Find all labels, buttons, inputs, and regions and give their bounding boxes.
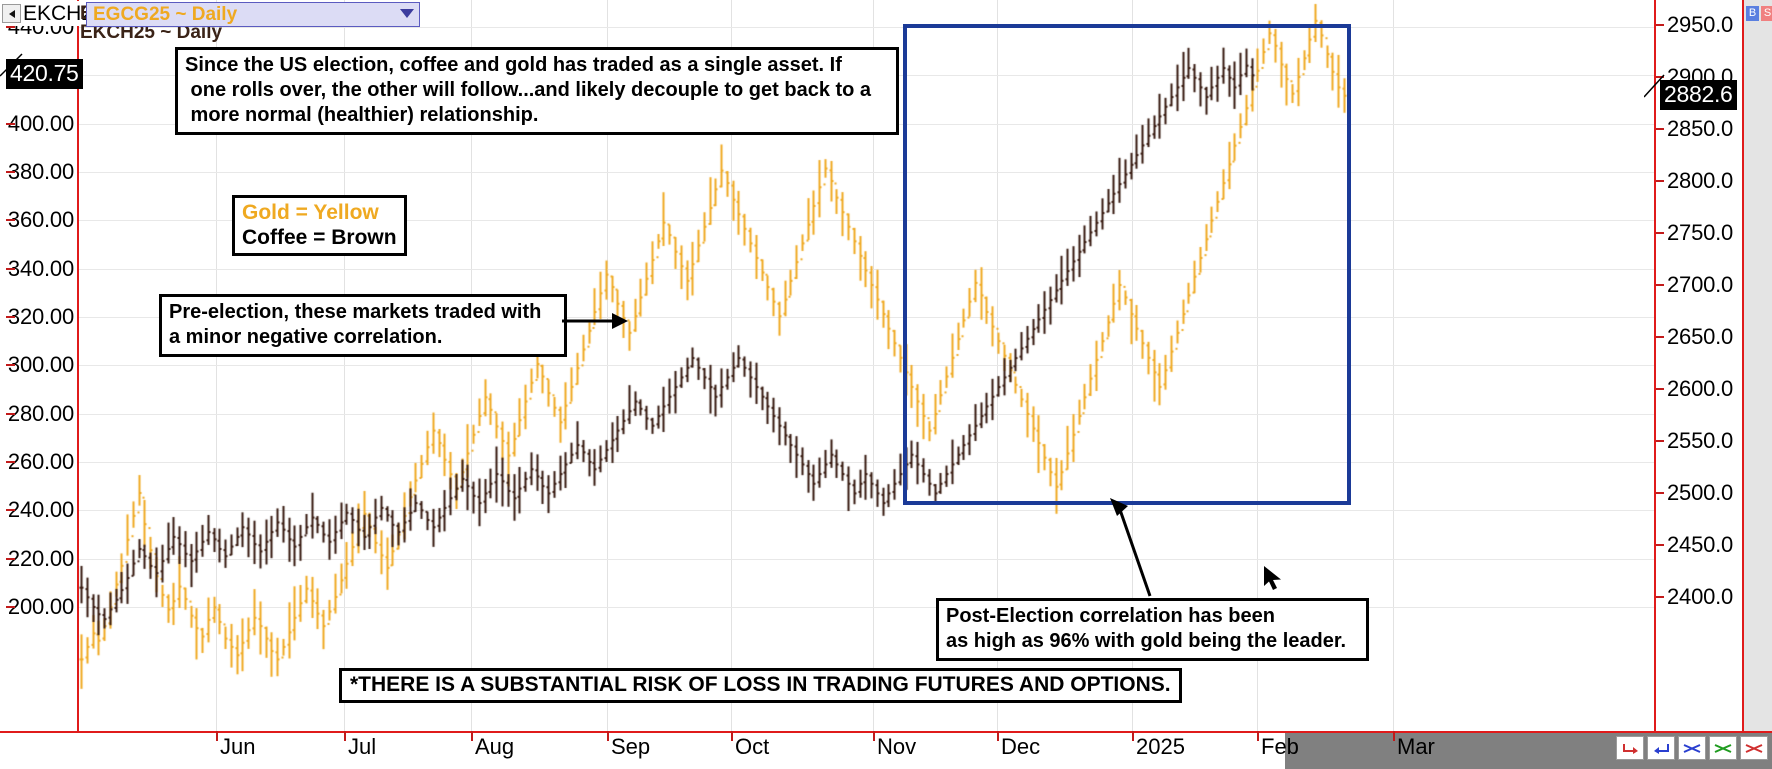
right-axis-tick bbox=[1655, 596, 1664, 598]
left-axis-label: 200.00 bbox=[8, 594, 74, 620]
left-axis-tick bbox=[6, 26, 15, 28]
right-axis-tick bbox=[1655, 180, 1664, 182]
right-axis-divider bbox=[1654, 0, 1656, 731]
date-axis-label: Aug bbox=[475, 734, 514, 760]
date-axis-tick bbox=[1257, 731, 1259, 741]
left-axis-tick bbox=[6, 413, 15, 415]
date-axis-tick bbox=[1132, 731, 1134, 741]
left-current-price-tag: 420.75 bbox=[6, 59, 83, 89]
right-axis-tick bbox=[1655, 440, 1664, 442]
right-current-price-tag: 2882.6 bbox=[1660, 80, 1737, 110]
post-election-arrow-icon bbox=[1108, 496, 1154, 602]
crossing-blue-icon[interactable] bbox=[1678, 736, 1706, 760]
date-axis-tick bbox=[607, 731, 609, 741]
left-axis-tick bbox=[6, 606, 15, 608]
right-axis-tick bbox=[1655, 388, 1664, 390]
right-axis-label: 2750.0 bbox=[1667, 220, 1733, 246]
chart-window: 440.00420.00400.00380.00360.00340.00320.… bbox=[0, 0, 1772, 769]
annotation-top-note[interactable]: Since the US election, coffee and gold h… bbox=[175, 47, 899, 135]
legend-coffee-label: Coffee = Brown bbox=[242, 225, 397, 250]
buy-sell-badges[interactable]: B S bbox=[1746, 6, 1772, 21]
right-axis-label: 2550.0 bbox=[1667, 428, 1733, 454]
risk-disclaimer: *THERE IS A SUBSTANTIAL RISK OF LOSS IN … bbox=[339, 668, 1182, 703]
selection-rectangle[interactable] bbox=[903, 24, 1351, 505]
left-axis-tick bbox=[6, 268, 15, 270]
right-axis-label: 2800.0 bbox=[1667, 168, 1733, 194]
date-axis-label: Sep bbox=[611, 734, 650, 760]
symbol-dropdown[interactable]: EGCG25 ~ Daily bbox=[86, 2, 420, 27]
left-axis-tick bbox=[6, 171, 15, 173]
right-axis-label: 2600.0 bbox=[1667, 376, 1733, 402]
step-forward-icon[interactable] bbox=[1647, 736, 1675, 760]
mouse-cursor-icon bbox=[1264, 566, 1284, 594]
left-axis-label: 360.00 bbox=[8, 207, 74, 233]
collapse-left-icon[interactable] bbox=[2, 4, 21, 23]
left-axis-label: 240.00 bbox=[8, 497, 74, 523]
date-axis-label: 2025 bbox=[1136, 734, 1185, 760]
date-axis-label: Mar bbox=[1397, 734, 1435, 760]
date-axis-label: Feb bbox=[1261, 734, 1299, 760]
left-axis-divider bbox=[77, 0, 79, 731]
right-axis-tick bbox=[1655, 232, 1664, 234]
chart-toolbar[interactable] bbox=[1616, 736, 1768, 760]
date-axis-label: Oct bbox=[735, 734, 769, 760]
annotation-legend[interactable]: Gold = Yellow Coffee = Brown bbox=[232, 195, 407, 256]
date-axis-label: Dec bbox=[1001, 734, 1040, 760]
date-axis-tick bbox=[344, 731, 346, 741]
annotation-post-election[interactable]: Post-Election correlation has been as hi… bbox=[936, 598, 1369, 661]
right-axis-label: 2950.0 bbox=[1667, 12, 1733, 38]
right-axis-tick bbox=[1655, 544, 1664, 546]
buy-badge[interactable]: B bbox=[1746, 6, 1759, 21]
right-axis-tick bbox=[1655, 128, 1664, 130]
right-axis-tick bbox=[1655, 284, 1664, 286]
left-axis-tick bbox=[6, 558, 15, 560]
left-axis-label: 300.00 bbox=[8, 352, 74, 378]
left-axis-tick bbox=[6, 461, 15, 463]
crossing-red-icon[interactable] bbox=[1740, 736, 1768, 760]
dom-panel[interactable] bbox=[1744, 0, 1772, 731]
left-axis-tick bbox=[6, 219, 15, 221]
left-axis-tick bbox=[6, 364, 15, 366]
left-axis-tick bbox=[6, 123, 15, 125]
date-axis-tick bbox=[873, 731, 875, 741]
left-axis-tick bbox=[6, 316, 15, 318]
legend-gold-label: Gold = Yellow bbox=[242, 200, 397, 225]
right-axis-label: 2700.0 bbox=[1667, 272, 1733, 298]
sell-badge[interactable]: S bbox=[1761, 6, 1772, 21]
date-axis[interactable]: JunJulAugSepOctNovDec2025FebMar bbox=[0, 731, 1772, 769]
right-axis-tick bbox=[1655, 492, 1664, 494]
left-axis-label: 380.00 bbox=[8, 159, 74, 185]
right-axis-tick bbox=[1655, 24, 1664, 26]
right-axis-label: 2650.0 bbox=[1667, 324, 1733, 350]
date-axis-tick bbox=[997, 731, 999, 741]
left-axis-label: 220.00 bbox=[8, 546, 74, 572]
right-axis-tick bbox=[1655, 336, 1664, 338]
right-axis-label: 2850.0 bbox=[1667, 116, 1733, 142]
left-axis-label: 260.00 bbox=[8, 449, 74, 475]
left-axis-label: 320.00 bbox=[8, 304, 74, 330]
right-axis-label: 2500.0 bbox=[1667, 480, 1733, 506]
date-axis-line bbox=[0, 731, 1772, 733]
left-axis-label: 280.00 bbox=[8, 401, 74, 427]
left-axis-label: 400.00 bbox=[8, 111, 74, 137]
date-axis-label: Jul bbox=[348, 734, 376, 760]
pre-election-arrow-icon bbox=[560, 300, 630, 340]
date-axis-label: Jun bbox=[220, 734, 255, 760]
chevron-down-icon[interactable] bbox=[400, 9, 414, 18]
date-axis-tick bbox=[216, 731, 218, 741]
annotation-pre-election[interactable]: Pre-election, these markets traded with … bbox=[159, 294, 567, 357]
symbol-dropdown-value: EGCG25 ~ Daily bbox=[87, 4, 237, 26]
date-axis-tick bbox=[731, 731, 733, 741]
date-axis-tick bbox=[471, 731, 473, 741]
date-axis-label: Nov bbox=[877, 734, 916, 760]
crossing-green-icon[interactable] bbox=[1709, 736, 1737, 760]
right-axis-label: 2450.0 bbox=[1667, 532, 1733, 558]
left-axis-label: 340.00 bbox=[8, 256, 74, 282]
left-price-axis[interactable]: 440.00420.00400.00380.00360.00340.00320.… bbox=[0, 0, 78, 731]
step-back-icon[interactable] bbox=[1616, 736, 1644, 760]
date-axis-tick bbox=[1393, 731, 1395, 741]
left-axis-tick bbox=[6, 509, 15, 511]
right-axis-label: 2400.0 bbox=[1667, 584, 1733, 610]
